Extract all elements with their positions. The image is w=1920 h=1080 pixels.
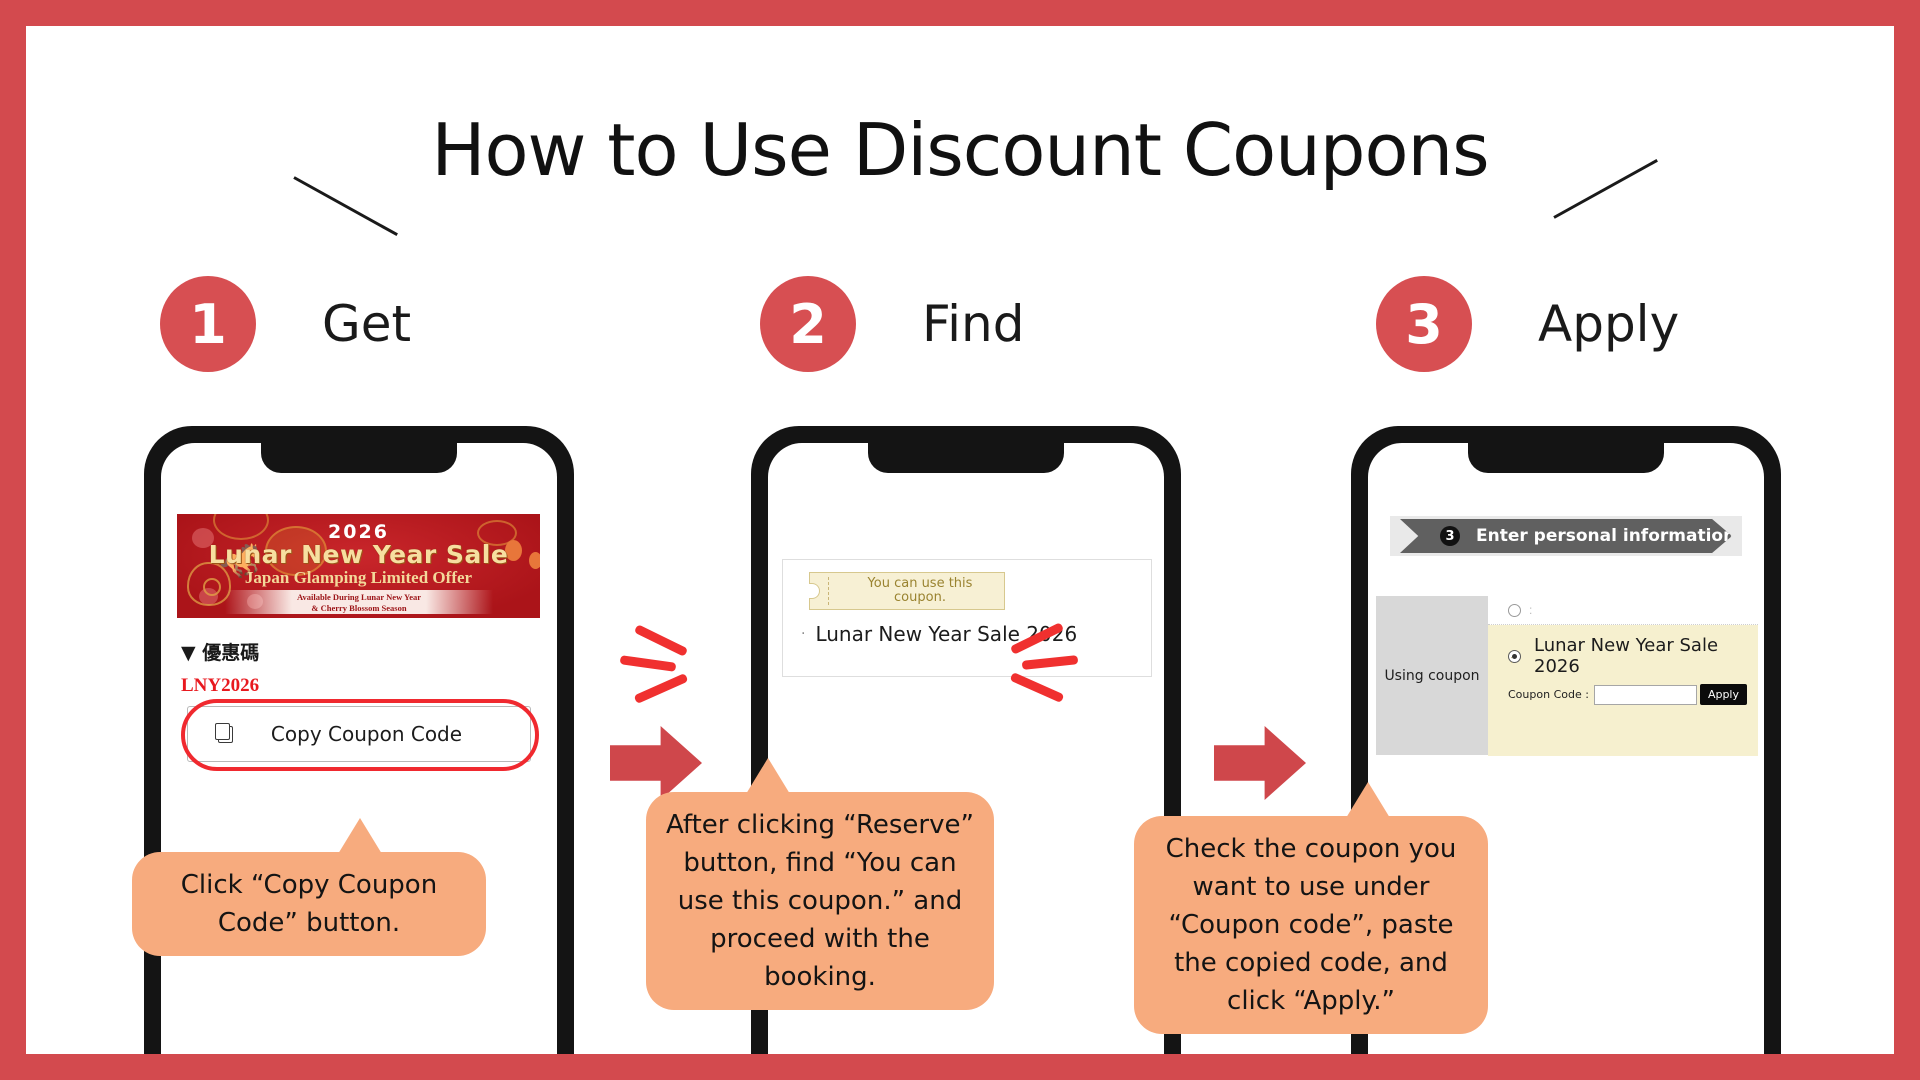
- ticket-perforation-icon: [828, 577, 829, 605]
- coupon-code-entry-row: Coupon Code : Apply: [1508, 684, 1747, 705]
- callout-step-1: Click “Copy Coupon Code” button.: [132, 852, 486, 956]
- coupon-code-input[interactable]: [1594, 685, 1697, 705]
- phone-notch-2: [868, 443, 1064, 473]
- lunar-sale-banner: 🐎 2026 Lunar New Year Sale Japan Glampin…: [177, 514, 540, 618]
- poster-canvas: How to Use Discount Coupons 1 Get 2 Find…: [26, 26, 1894, 1054]
- coupon-code-field-label: Coupon Code :: [1508, 688, 1589, 701]
- using-coupon-options: : Lunar New Year Sale 2026 : Coupon Code…: [1488, 596, 1758, 755]
- step-label-3: Apply: [1538, 295, 1679, 353]
- coupon-available-text: You can use this coupon.: [840, 577, 1000, 605]
- copy-icon: [218, 726, 233, 743]
- callout-step-3: Check the coupon you want to use under “…: [1134, 816, 1488, 1034]
- emphasis-slash-left-3: [634, 673, 689, 704]
- radio-icon-empty[interactable]: [1508, 604, 1521, 617]
- step-arrow-1-to-2: [610, 726, 702, 800]
- callout-tail-1: [338, 818, 382, 854]
- coupon-option-empty[interactable]: :: [1488, 596, 1758, 625]
- copy-coupon-code-button[interactable]: Copy Coupon Code: [187, 706, 531, 762]
- page-title: How to Use Discount Coupons: [26, 108, 1894, 192]
- callout-tail-3: [1346, 782, 1390, 818]
- callout-step-1-text: Click “Copy Coupon Code” button.: [181, 870, 437, 938]
- step-header-2: 2 Find: [760, 276, 1024, 372]
- banner-note-line-1: Available During Lunar New Year: [225, 592, 493, 603]
- step-label-1: Get: [322, 295, 411, 353]
- callout-step-2: After clicking “Reserve” button, find “Y…: [646, 792, 994, 1010]
- phone-notch-3: [1468, 443, 1664, 473]
- coupon-option-selected[interactable]: Lunar New Year Sale 2026: [1508, 635, 1758, 677]
- breadcrumb-step-number: 3: [1440, 526, 1460, 546]
- callout-step-2-text: After clicking “Reserve” button, find “Y…: [666, 810, 974, 992]
- banner-headline: Lunar New Year Sale: [177, 540, 540, 569]
- step-label-2: Find: [922, 295, 1024, 353]
- step-header-3: 3 Apply: [1376, 276, 1679, 372]
- callout-step-3-text: Check the coupon you want to use under “…: [1166, 834, 1457, 1016]
- using-coupon-form: Using coupon : Lunar New Year Sale 2026 …: [1376, 595, 1758, 755]
- coupon-available-line-2: coupon.: [894, 590, 946, 605]
- breadcrumb-step-current: 3 Enter personal information: [1400, 519, 1732, 553]
- emphasis-slash-left-2: [620, 655, 677, 672]
- callout-tail-2: [746, 758, 790, 794]
- coupon-code-value: LNY2026: [181, 675, 259, 697]
- phone-mockup-1: 🐎 2026 Lunar New Year Sale Japan Glampin…: [144, 426, 574, 1054]
- step-number-badge-1: 1: [160, 276, 256, 372]
- step-number-badge-2: 2: [760, 276, 856, 372]
- coupon-section-heading: ▼ 優惠碼: [181, 638, 259, 665]
- reservation-coupon-card: You can use this coupon. ·Lunar New Year…: [782, 559, 1152, 677]
- phone-notch-1: [261, 443, 457, 473]
- checkout-breadcrumb: 3 Enter personal information: [1390, 516, 1742, 556]
- bullet-icon: ·: [801, 626, 805, 642]
- emphasis-slash-left-1: [634, 624, 688, 657]
- poster-frame: How to Use Discount Coupons 1 Get 2 Find…: [0, 0, 1920, 1080]
- step-arrow-2-to-3: [1214, 726, 1306, 800]
- step-header-1: 1 Get: [160, 276, 411, 372]
- banner-subhead: Japan Glamping Limited Offer: [177, 568, 540, 588]
- breadcrumb-step-label: Enter personal information: [1476, 526, 1735, 546]
- banner-note: Available During Lunar New Year & Cherry…: [225, 590, 493, 614]
- using-coupon-row-label: Using coupon: [1376, 596, 1488, 755]
- coupon-option-selected-row[interactable]: Lunar New Year Sale 2026 : Coupon Code :…: [1488, 625, 1758, 756]
- apply-button[interactable]: Apply: [1700, 684, 1747, 705]
- coupon-option-selected-label: Lunar New Year Sale 2026: [1534, 635, 1758, 677]
- coupon-option-sub-marker: :: [1510, 654, 1513, 666]
- coupon-available-line-1: You can use this: [868, 576, 973, 591]
- step-number-badge-3: 3: [1376, 276, 1472, 372]
- coupon-available-badge: You can use this coupon.: [809, 572, 1005, 610]
- ticket-notch-icon: [809, 583, 820, 599]
- phone-screen-1: 🐎 2026 Lunar New Year Sale Japan Glampin…: [161, 443, 557, 1054]
- banner-note-line-2: & Cherry Blossom Season: [225, 603, 493, 614]
- coupon-option-empty-label: :: [1529, 603, 1532, 617]
- copy-coupon-code-label: Copy Coupon Code: [233, 722, 530, 746]
